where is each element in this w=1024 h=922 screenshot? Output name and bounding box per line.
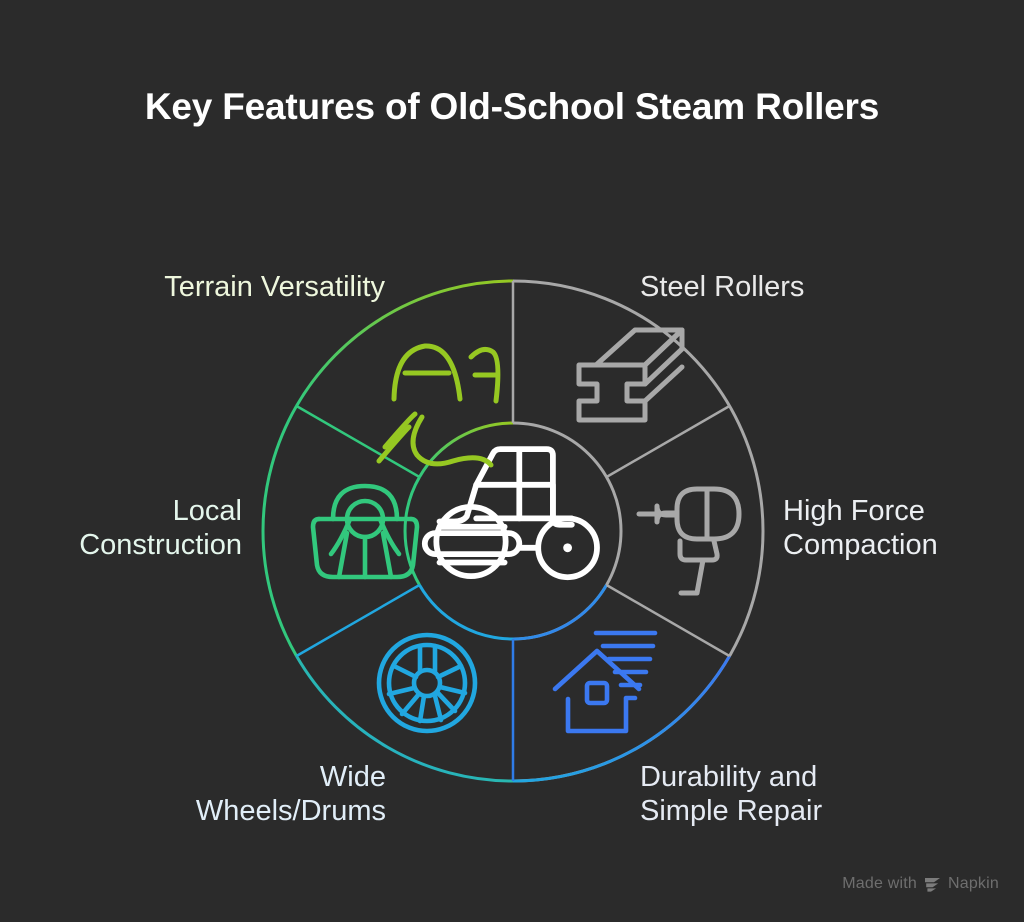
inner-circle-bottom-left-cyan — [420, 585, 514, 639]
watermark-brand: Napkin — [948, 875, 999, 893]
napkin-watermark[interactable]: Made with Napkin — [842, 875, 999, 893]
inner-circle-bottom-right-blue — [513, 585, 607, 639]
divider-upper-right — [607, 406, 730, 477]
wheel-graphic — [257, 275, 769, 787]
steel-beam-icon — [579, 330, 682, 420]
inner-circle-right-gray — [513, 423, 621, 639]
segment-label-durability-simple-repair[interactable]: Durability and Simple Repair — [640, 760, 970, 828]
radial-segment-diagram: Terrain Versatility Local Construction W… — [0, 0, 1024, 922]
wheel-spokes-icon — [379, 635, 475, 731]
outer-arc-left-green — [263, 406, 296, 656]
segment-label-high-force-compaction[interactable]: High Force Compaction — [783, 494, 1024, 562]
outer-arc-right-gray — [513, 281, 763, 781]
segment-label-wide-wheels-drums[interactable]: Wide Wheels/Drums — [0, 760, 386, 828]
power-drill-icon — [639, 489, 739, 593]
steam-roller-icon — [425, 449, 597, 577]
napkin-logo-icon — [923, 876, 942, 893]
segment-label-local-construction[interactable]: Local Construction — [0, 494, 242, 562]
mountain-road-icon — [379, 346, 498, 465]
house-storm-icon — [555, 633, 655, 731]
construction-fan-icon — [313, 486, 417, 577]
watermark-prefix: Made with — [842, 875, 917, 893]
divider-upper-left — [297, 406, 420, 477]
segment-label-terrain-versatility[interactable]: Terrain Versatility — [0, 270, 385, 304]
segment-label-steel-rollers[interactable]: Steel Rollers — [640, 270, 980, 304]
diagram-canvas: Key Features of Old-School Steam Rollers — [0, 0, 1024, 922]
